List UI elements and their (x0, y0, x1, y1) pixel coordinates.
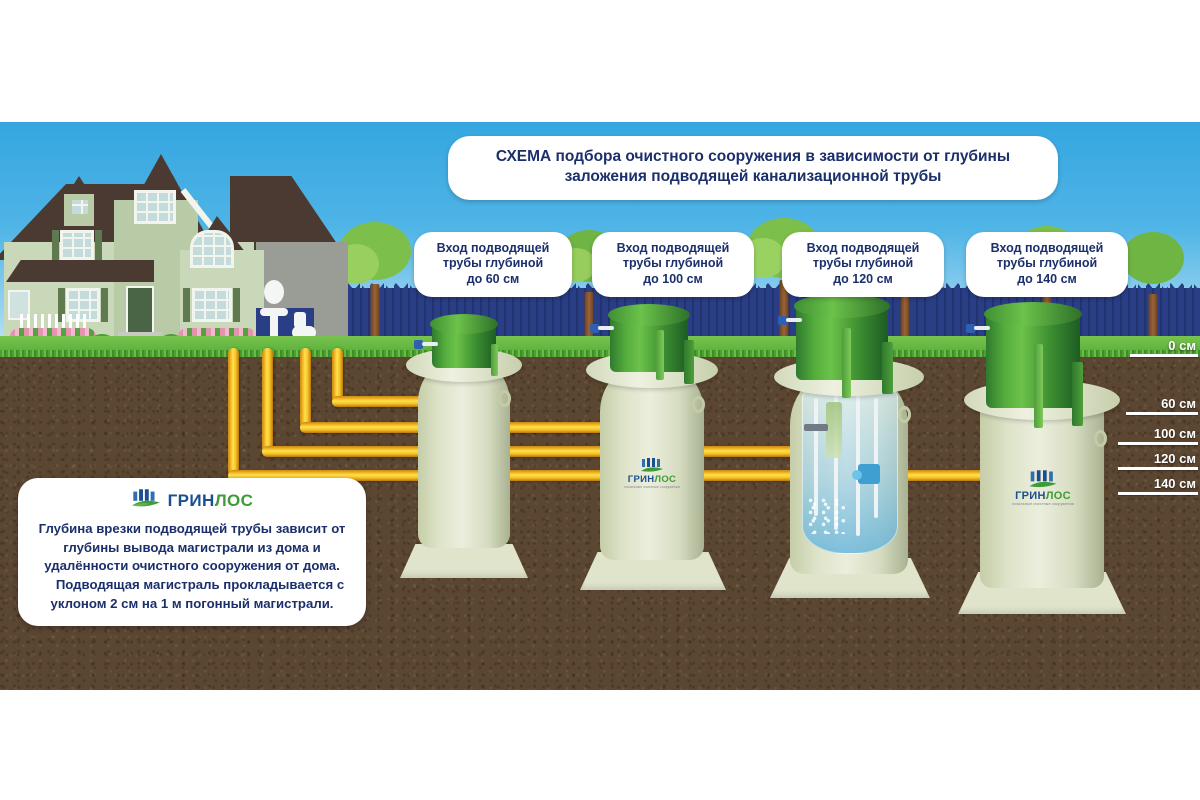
pipe-vertical-1 (332, 348, 343, 402)
callout-line-1: Вход подводящей (788, 241, 938, 256)
treatment-tank-2[interactable]: ГРИНЛОС локальные очистные сооружения (580, 310, 726, 590)
depth-tick-60 (1126, 412, 1198, 415)
tank-fin (842, 328, 851, 398)
tank-outlet-pipe (1072, 362, 1083, 426)
tank-outlet-pipe (684, 340, 694, 384)
depth-tick-140 (1118, 492, 1198, 495)
info-box: ГРИНЛОС Глубина врезки подводящей трубы … (18, 478, 366, 626)
callout-line-2: трубы глубиной (788, 256, 938, 271)
treatment-tank-1[interactable] (398, 318, 530, 578)
callout-line-1: Вход подводящей (420, 241, 566, 256)
title-line-1: СХЕМА подбора очистного сооружения в зав… (466, 147, 1040, 167)
tank-valve-arm (422, 342, 438, 346)
greenlos-mark-icon (612, 458, 692, 473)
depth-label-120: 120 см (1102, 451, 1196, 466)
title-line-2: заложения подводящей канализационной тру… (466, 167, 1040, 187)
window-upper-center (134, 190, 176, 224)
tank-lid (984, 302, 1082, 326)
house-illustration (0, 132, 342, 357)
tank-fin (656, 330, 664, 380)
porch-roof (6, 260, 154, 282)
tank-control-module (804, 424, 828, 431)
tank-brand-text: ГРИНЛОС (1000, 490, 1086, 502)
shutter (183, 288, 190, 322)
shutter (52, 230, 59, 260)
tank-filter-media (826, 402, 842, 458)
tank-lifting-lug (898, 406, 911, 423)
mirror (264, 280, 284, 304)
callout-line-3: до 120 см (788, 272, 938, 287)
tank-lid (794, 294, 890, 318)
tank-fin (1034, 344, 1043, 428)
greenlos-logo: ГРИНЛОС (30, 488, 354, 514)
info-paragraph-1: Глубина врезки подводящей трубы зависит … (30, 520, 354, 576)
greenlos-wordmark: ГРИНЛОС (168, 491, 254, 511)
tank-valve-arm (786, 318, 802, 322)
depth-label-60: 60 см (1110, 396, 1196, 411)
greenlos-mark-icon (1000, 470, 1086, 489)
pipe-vertical-4 (228, 348, 239, 476)
tank-fin (491, 344, 498, 376)
shutter (233, 288, 240, 322)
tank-outlet-pipe (882, 342, 893, 394)
callout-line-2: трубы глубиной (972, 256, 1122, 271)
callout-line-1: Вход подводящей (598, 241, 748, 256)
tank-pump-intake (852, 470, 862, 480)
tank-brand-logo: ГРИНЛОС локальные очистные сооружения (1000, 470, 1086, 506)
window-upper-left (60, 230, 94, 260)
callout-depth-100: Вход подводящей трубы глубиной до 100 см (592, 232, 754, 297)
tank-brand-text: ГРИНЛОС (612, 474, 692, 485)
tank-valve-arm (974, 326, 990, 330)
tank-lifting-lug (498, 390, 511, 407)
page-title: СХЕМА подбора очистного сооружения в зав… (448, 136, 1058, 200)
treatment-tank-3[interactable] (770, 302, 930, 598)
tank-aeration-bubbles (808, 498, 846, 534)
tank-internal-pipe (856, 390, 860, 536)
tank-internal-pipe (874, 398, 878, 518)
depth-tick-120 (1118, 467, 1198, 470)
sink-pedestal (270, 314, 278, 336)
callout-line-2: трубы глубиной (598, 256, 748, 271)
tank-brand-tagline: локальные очистные сооружения (612, 485, 692, 489)
tank-lid (430, 314, 498, 334)
tank-lid (608, 304, 690, 326)
tank-brand-tagline: локальные очистные сооружения (1000, 502, 1086, 506)
tank-valve-arm (598, 326, 614, 330)
callout-line-3: до 60 см (420, 272, 566, 287)
pipe-vertical-2 (300, 348, 311, 428)
callout-line-2: трубы глубиной (420, 256, 566, 271)
callout-depth-140: Вход подводящей трубы глубиной до 140 см (966, 232, 1128, 297)
tank-lifting-lug (692, 396, 705, 413)
pipe-vertical-3 (262, 348, 273, 452)
callout-depth-60: Вход подводящей трубы глубиной до 60 см (414, 232, 572, 297)
tank-brand-logo: ГРИНЛОС локальные очистные сооружения (612, 458, 692, 489)
shutter (95, 230, 102, 260)
depth-label-140: 140 см (1102, 476, 1196, 491)
callout-depth-120: Вход подводящей трубы глубиной до 120 см (782, 232, 944, 297)
callout-line-3: до 140 см (972, 272, 1122, 287)
callout-line-3: до 100 см (598, 272, 748, 287)
info-paragraph-2: Подводящая магистраль прокладывается с у… (30, 576, 354, 613)
window-lower-right (192, 288, 232, 322)
greenlos-mark-icon (131, 488, 161, 514)
dormer-window (72, 200, 88, 214)
depth-label-100: 100 см (1102, 426, 1196, 441)
front-door (126, 286, 154, 334)
depth-tick-100 (1118, 442, 1198, 445)
shutter (101, 288, 108, 322)
tank-base-plate (400, 544, 528, 578)
tank-body (418, 356, 510, 548)
window-arched (190, 230, 234, 268)
treatment-tank-4[interactable]: ГРИНЛОС локальные очистные сооружения (958, 310, 1126, 614)
tank-neck (986, 312, 1080, 408)
depth-label-0: 0 см (1118, 338, 1196, 353)
diagram-canvas: ГРИНЛОС локальные очистные сооружения (0, 0, 1200, 800)
callout-line-1: Вход подводящей (972, 241, 1122, 256)
depth-tick-0 (1130, 354, 1198, 357)
